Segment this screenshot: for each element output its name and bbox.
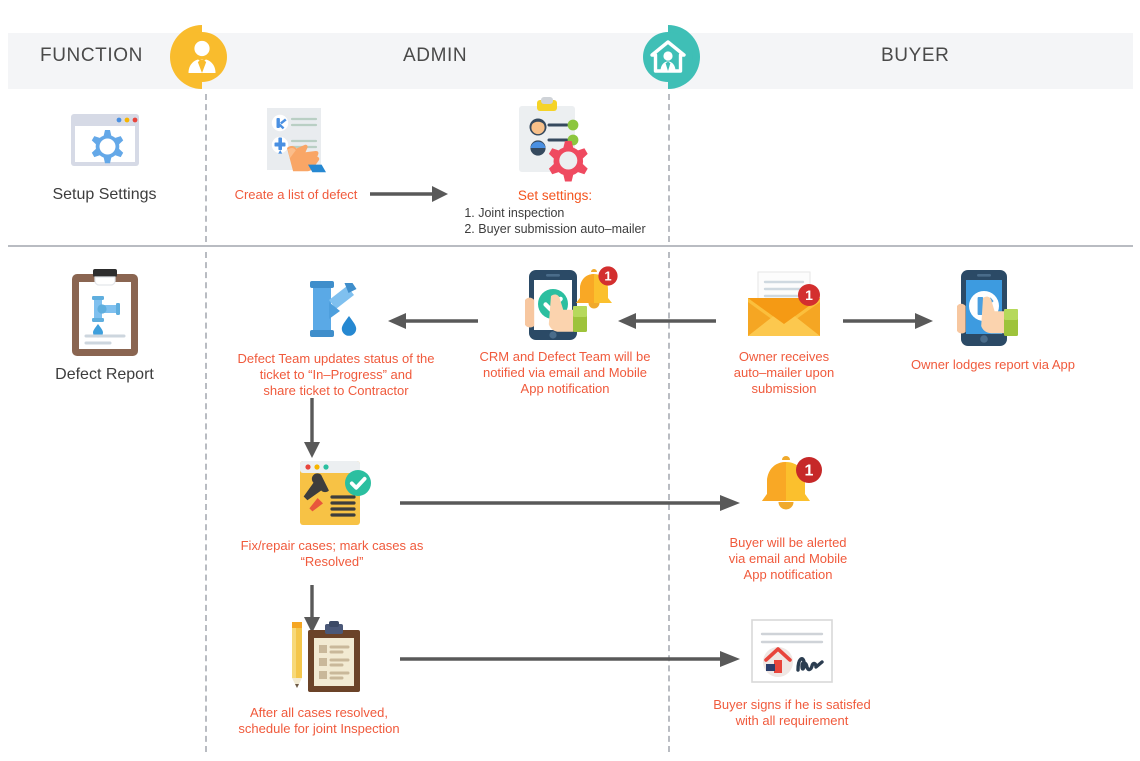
pencil-clipboard-icon xyxy=(274,620,364,698)
set-settings-list: 1. Joint inspection 2. Buyer submission … xyxy=(464,205,645,237)
caption-owner-lodges-report: Owner lodges report via App xyxy=(905,357,1081,373)
pipe-leak-icon xyxy=(301,276,371,344)
caption-set-settings: Set settings: xyxy=(455,188,655,204)
caption-owner-receives-mailer: Owner receives auto–mailer upon submissi… xyxy=(700,349,868,397)
function-label-defect-report: Defect Report xyxy=(22,367,187,383)
arrow-fix-to-buyer-alert xyxy=(400,492,740,519)
node-set-settings: Set settings: 1. Joint inspection 2. Buy… xyxy=(455,96,655,238)
window-screwdriver-check-icon xyxy=(284,455,380,531)
function-label-setup-settings: Setup Settings xyxy=(22,187,187,203)
caption-crm-notified: CRM and Defect Team will be notified via… xyxy=(465,349,665,397)
row-divider xyxy=(8,245,1133,247)
lane-header-function: FUNCTION xyxy=(40,45,143,67)
arrow-create-to-settings xyxy=(370,182,450,211)
clipboard-people-gear-icon xyxy=(511,96,599,182)
function-cell-setup-settings: Setup Settings xyxy=(22,108,187,203)
bell-badge-count: 1 xyxy=(805,463,814,480)
lane-separator-function-admin-bottom xyxy=(205,252,207,752)
caption-buyer-signs: Buyer signs if he is satisfed with all r… xyxy=(706,697,878,729)
lane-header-admin: ADMIN xyxy=(403,45,467,67)
flowchart-canvas: FUNCTION ADMIN BUYER xyxy=(0,0,1140,761)
browser-gear-icon xyxy=(57,108,153,180)
phone-check-bell-icon: 1 xyxy=(507,262,623,342)
node-defect-team-updates: Defect Team updates status of the ticket… xyxy=(216,276,456,399)
bell-alert-icon: 1 xyxy=(746,452,830,528)
mail-badge-count: 1 xyxy=(805,287,813,303)
envelope-mail-icon: 1 xyxy=(738,270,830,342)
node-schedule-joint-inspection: After all cases resolved, schedule for j… xyxy=(224,620,414,737)
lane-header-buyer: BUYER xyxy=(881,45,949,67)
set-settings-list-item-1: 1. Joint inspection xyxy=(464,205,645,221)
notification-badge-count: 1 xyxy=(604,269,611,284)
node-buyer-signs: Buyer signs if he is satisfed with all r… xyxy=(706,618,878,729)
clipboard-pipe-icon xyxy=(64,268,146,360)
user-tie-circle-icon xyxy=(166,21,238,93)
lane-separator-function-admin-top xyxy=(205,94,207,242)
caption-schedule-joint-inspection: After all cases resolved, schedule for j… xyxy=(224,705,414,737)
arrow-inspection-to-sign xyxy=(400,648,740,675)
caption-defect-team-updates: Defect Team updates status of the ticket… xyxy=(216,351,456,399)
document-signature-icon xyxy=(746,618,838,690)
checklist-hand-icon xyxy=(254,104,338,180)
node-owner-lodges-report: Owner lodges report via App xyxy=(905,268,1081,373)
set-settings-list-item-2: 2. Buyer submission auto–mailer xyxy=(464,221,645,237)
arrow-defect-team-to-fix xyxy=(300,398,324,463)
phone-pipe-hand-icon xyxy=(943,268,1043,350)
caption-fix-repair-cases: Fix/repair cases; mark cases as “Resolve… xyxy=(222,538,442,570)
node-create-defect-list: Create a list of defect xyxy=(226,104,366,203)
house-person-circle-icon xyxy=(632,21,704,93)
lane-separator-admin-buyer-top xyxy=(668,94,670,242)
node-buyer-alerted: 1 Buyer will be alerted via email and Mo… xyxy=(708,452,868,583)
caption-buyer-alerted: Buyer will be alerted via email and Mobi… xyxy=(708,535,868,583)
function-cell-defect-report: Defect Report xyxy=(22,268,187,383)
caption-create-defect-list: Create a list of defect xyxy=(226,187,366,203)
